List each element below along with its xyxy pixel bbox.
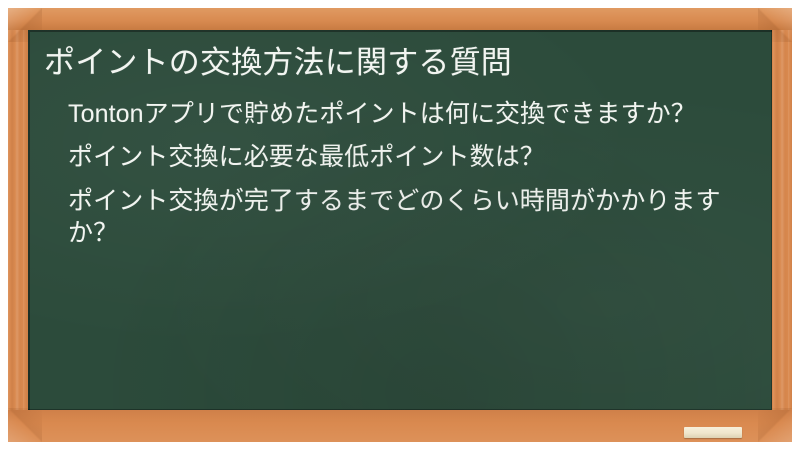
frame-corner-bottom-right <box>758 408 792 442</box>
frame-top-rail <box>8 8 792 30</box>
list-item: Tontonアプリで貯めたポイントは何に交換できますか？ <box>68 98 754 131</box>
question-list: Tontonアプリで貯めたポイントは何に交換できますか？ ポイント交換に必要な最… <box>42 98 754 250</box>
wooden-frame: ポイントの交換方法に関する質問 Tontonアプリで貯めたポイントは何に交換でき… <box>8 8 792 442</box>
board-content: ポイントの交換方法に関する質問 Tontonアプリで貯めたポイントは何に交換でき… <box>28 30 772 410</box>
page-title: ポイントの交換方法に関する質問 <box>44 44 754 82</box>
chalk-stick <box>684 427 742 438</box>
chalkboard-surface: ポイントの交換方法に関する質問 Tontonアプリで貯めたポイントは何に交換でき… <box>28 30 772 410</box>
list-item: ポイント交換が完了するまでどのくらい時間がかかりますか？ <box>68 185 754 250</box>
frame-corner-bottom-left <box>8 408 42 442</box>
list-item: ポイント交換に必要な最低ポイント数は？ <box>68 141 754 174</box>
frame-bottom-rail <box>8 410 792 442</box>
chalkboard-slide: ポイントの交換方法に関する質問 Tontonアプリで貯めたポイントは何に交換でき… <box>0 0 800 450</box>
